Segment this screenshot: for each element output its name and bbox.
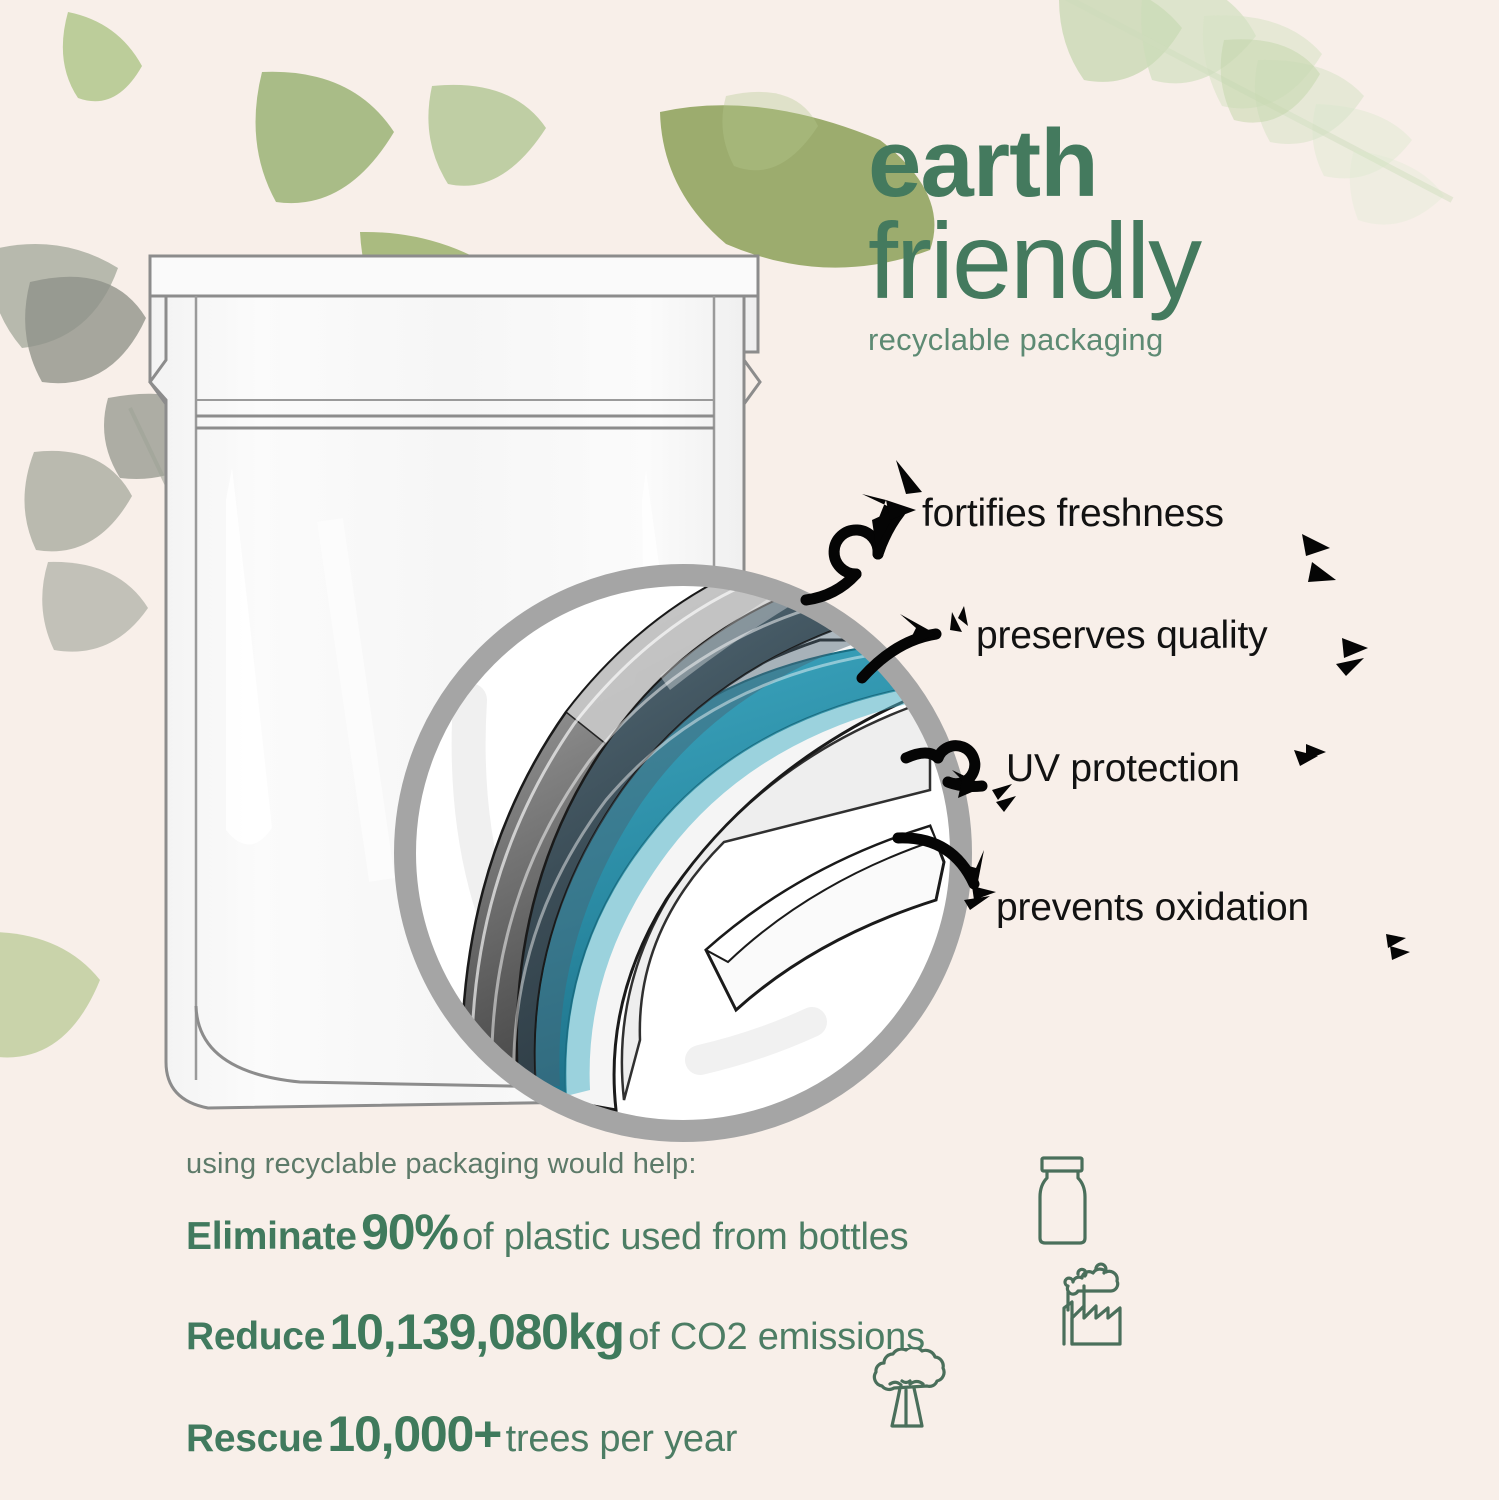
stat-verb: Rescue xyxy=(186,1417,323,1460)
feature-label-preserves-quality: preserves quality xyxy=(976,614,1267,658)
headline-block: earth friendly recyclable packaging xyxy=(868,120,1468,358)
stat-verb: Eliminate xyxy=(186,1215,357,1258)
stat-verb: Reduce xyxy=(186,1315,325,1358)
stats-intro-text: using recyclable packaging would help: xyxy=(186,1148,1286,1181)
feature-label-fortifies-freshness: fortifies freshness xyxy=(922,492,1224,536)
infographic-page: earth friendly recyclable packaging fort… xyxy=(0,0,1499,1500)
headline-subtitle: recyclable packaging xyxy=(868,322,1468,358)
stat-tail: of plastic used from bottles xyxy=(462,1216,908,1258)
headline-line-1: earth xyxy=(868,120,1468,208)
feature-label-uv-protection: UV protection xyxy=(1006,747,1240,791)
feature-label-prevents-oxidation: prevents oxidation xyxy=(996,886,1309,930)
pouch-body xyxy=(150,256,760,1108)
stat-tail: trees per year xyxy=(506,1418,738,1460)
stat-row: Rescue 10,000+ trees per year xyxy=(186,1405,1286,1463)
factory-icon xyxy=(1062,1262,1138,1348)
bottle-icon xyxy=(1035,1155,1101,1249)
magnifier-contents xyxy=(405,534,961,1131)
headline-line-2: friendly xyxy=(868,208,1468,314)
stat-value: 90% xyxy=(361,1204,457,1260)
tree-icon xyxy=(858,1348,966,1440)
magnifier-ring xyxy=(405,575,961,1131)
stat-value: 10,139,080kg xyxy=(330,1304,624,1360)
stat-row: Eliminate 90% of plastic used from bottl… xyxy=(186,1203,1286,1261)
stat-value: 10,000+ xyxy=(327,1406,501,1462)
